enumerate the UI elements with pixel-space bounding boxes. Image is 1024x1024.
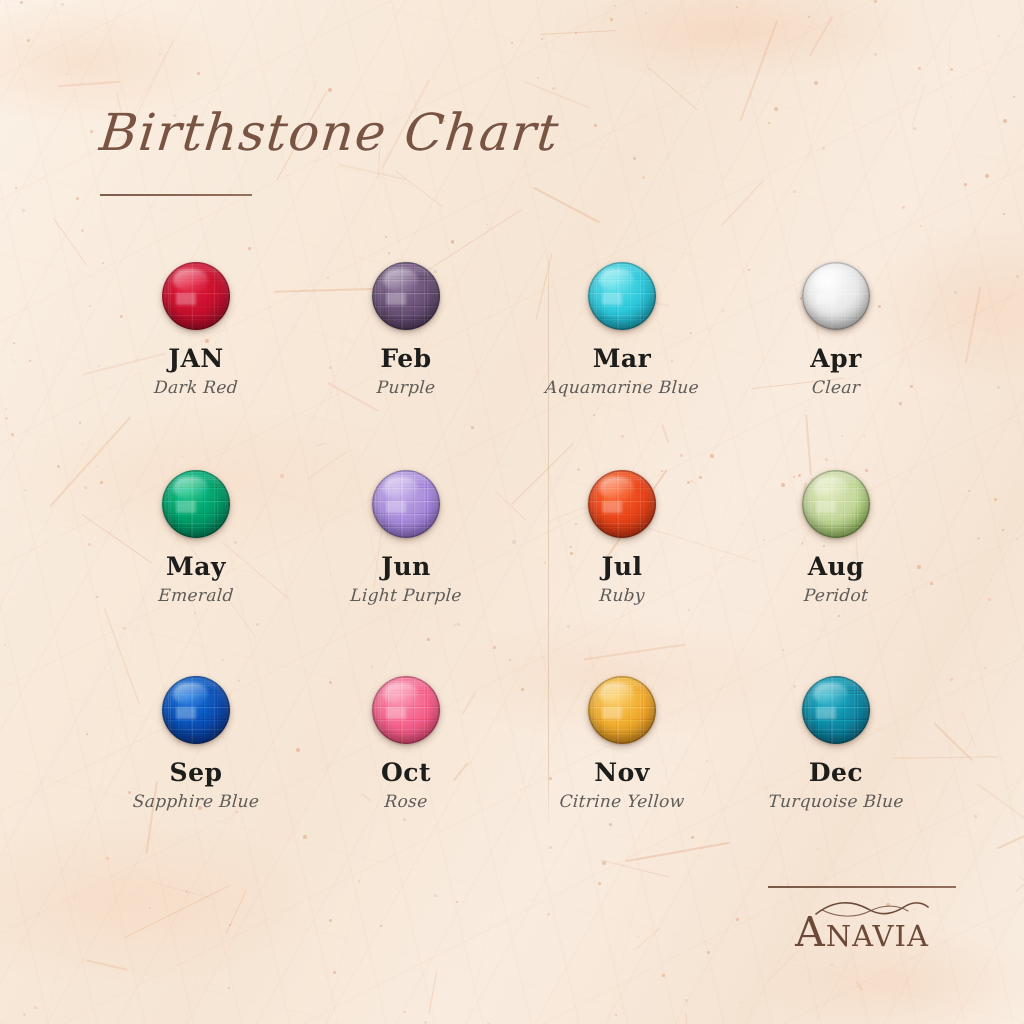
- birthstone-cell[interactable]: AugPeridot: [736, 470, 936, 605]
- stone-color-label: Ruby: [521, 588, 722, 605]
- anavia-wordmark: ANAVIA: [752, 912, 972, 953]
- birthstone-cell[interactable]: MarAquamarine Blue: [522, 262, 722, 397]
- gem-icon[interactable]: [588, 676, 656, 744]
- gem-icon[interactable]: [802, 262, 870, 330]
- stone-color-label: Citrine Yellow: [521, 794, 722, 811]
- month-label: Sep: [96, 760, 296, 785]
- gem-rim: [588, 676, 656, 744]
- gem-icon[interactable]: [588, 262, 656, 330]
- birthstone-cell[interactable]: DecTurquoise Blue: [736, 676, 936, 811]
- stone-color-label: Emerald: [95, 588, 296, 605]
- month-label: Mar: [522, 346, 722, 371]
- stone-color-label: Purple: [305, 380, 506, 397]
- birthstone-grid: JANDark RedFebPurpleMarAquamarine BlueAp…: [0, 0, 1024, 1024]
- month-label: Feb: [306, 346, 506, 371]
- birthstone-cell[interactable]: AprClear: [736, 262, 936, 397]
- stone-color-label: Dark Red: [95, 380, 296, 397]
- month-label: Jun: [306, 554, 506, 579]
- anavia-rest: NAVIA: [826, 919, 929, 953]
- gem-stone: [372, 676, 440, 744]
- gem-stone: [372, 470, 440, 538]
- gem-rim: [162, 470, 230, 538]
- stone-color-label: Rose: [305, 794, 506, 811]
- gem-rim: [372, 262, 440, 330]
- logo-rule: [768, 886, 956, 888]
- month-label: JAN: [96, 346, 296, 371]
- gem-rim: [588, 262, 656, 330]
- birthstone-cell[interactable]: SepSapphire Blue: [96, 676, 296, 811]
- gem-icon[interactable]: [802, 676, 870, 744]
- gem-stone: [162, 676, 230, 744]
- gem-stone: [802, 676, 870, 744]
- gem-rim: [802, 676, 870, 744]
- anavia-logo: ANAVIA: [752, 898, 972, 960]
- birthstone-cell[interactable]: MayEmerald: [96, 470, 296, 605]
- gem-stone: [588, 262, 656, 330]
- gem-stone: [162, 262, 230, 330]
- stone-color-label: Sapphire Blue: [95, 794, 296, 811]
- birthstone-cell[interactable]: FebPurple: [306, 262, 506, 397]
- gem-icon[interactable]: [372, 470, 440, 538]
- gem-rim: [802, 470, 870, 538]
- gem-rim: [802, 262, 870, 330]
- birthstone-cell[interactable]: JunLight Purple: [306, 470, 506, 605]
- gem-icon[interactable]: [802, 470, 870, 538]
- birthstone-cell[interactable]: NovCitrine Yellow: [522, 676, 722, 811]
- gem-rim: [372, 470, 440, 538]
- stone-color-label: Aquamarine Blue: [521, 380, 722, 397]
- gem-stone: [588, 676, 656, 744]
- month-label: Aug: [736, 554, 936, 579]
- month-label: Oct: [306, 760, 506, 785]
- birthstone-chart-page: Birthstone Chart JANDark RedFebPurpleMar…: [0, 0, 1024, 1024]
- month-label: Nov: [522, 760, 722, 785]
- gem-rim: [162, 676, 230, 744]
- gem-stone: [802, 262, 870, 330]
- gem-stone: [588, 470, 656, 538]
- gem-stone: [372, 262, 440, 330]
- month-label: Jul: [522, 554, 722, 579]
- gem-icon[interactable]: [372, 262, 440, 330]
- gem-icon[interactable]: [588, 470, 656, 538]
- gem-icon[interactable]: [372, 676, 440, 744]
- gem-rim: [588, 470, 656, 538]
- gem-stone: [802, 470, 870, 538]
- month-label: Apr: [736, 346, 936, 371]
- gem-stone: [162, 470, 230, 538]
- stone-color-label: Turquoise Blue: [735, 794, 936, 811]
- gem-icon[interactable]: [162, 262, 230, 330]
- stone-color-label: Peridot: [735, 588, 936, 605]
- birthstone-cell[interactable]: JulRuby: [522, 470, 722, 605]
- gem-icon[interactable]: [162, 470, 230, 538]
- anavia-cap: A: [795, 908, 826, 956]
- gem-icon[interactable]: [162, 676, 230, 744]
- gem-rim: [162, 262, 230, 330]
- birthstone-cell[interactable]: OctRose: [306, 676, 506, 811]
- month-label: May: [96, 554, 296, 579]
- month-label: Dec: [736, 760, 936, 785]
- stone-color-label: Clear: [735, 380, 936, 397]
- stone-color-label: Light Purple: [305, 588, 506, 605]
- birthstone-cell[interactable]: JANDark Red: [96, 262, 296, 397]
- gem-rim: [372, 676, 440, 744]
